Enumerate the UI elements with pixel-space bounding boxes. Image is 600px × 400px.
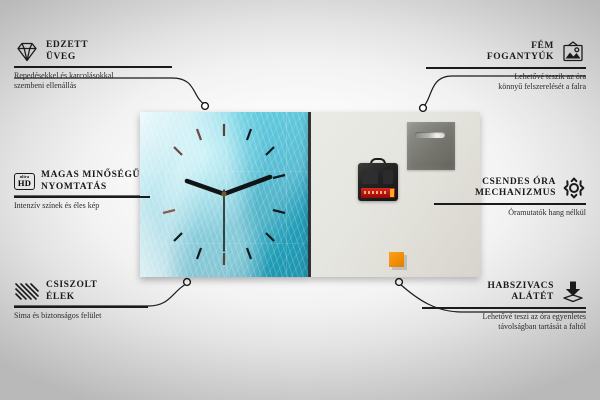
foam-pad-arrow-icon (560, 280, 586, 304)
leader-dot-tempered-glass (202, 103, 209, 110)
clock-center-cap (221, 191, 226, 196)
clock-minute-hand (224, 177, 270, 194)
polished-edge-icon (14, 282, 40, 302)
mechanism-body (358, 163, 398, 201)
callout-title: EDZETT ÜVEG (46, 40, 88, 63)
clock-dial (140, 112, 308, 277)
hanger-slot (415, 132, 445, 138)
clock-front-panel (140, 112, 308, 277)
callout-rule (14, 306, 148, 308)
callout-rule (434, 203, 586, 205)
callout-subtitle: Intenzív színek és éles kép (14, 201, 164, 211)
callout-title: CSISZOLT ÉLEK (46, 280, 97, 303)
quartz-mechanism-part (358, 163, 398, 201)
callout-metal-handles: FÉM FOGANTYÚK Lehetővé teszik az óra kön… (426, 40, 586, 92)
leader-dot-metal-handles (420, 105, 427, 112)
clock-hour-hand (187, 181, 224, 194)
ultra-hd-main-label: HD (18, 179, 31, 188)
diamond-icon (14, 41, 40, 63)
metal-hanger-plate-part (407, 122, 455, 170)
callout-title: MAGAS MINŐSÉGŰ NYOMTATÁS (41, 170, 140, 193)
battery (361, 188, 395, 198)
callout-polished-edges: CSISZOLT ÉLEK Sima és biztonságos felüle… (14, 280, 164, 321)
callout-tempered-glass: EDZETT ÜVEG Repedésekkel és karcolásokka… (14, 40, 174, 91)
infographic-canvas: EDZETT ÜVEG Repedésekkel és karcolásokka… (0, 0, 600, 400)
callout-title: CSENDES ÓRA MECHANIZMUS (475, 177, 556, 200)
callout-subtitle: Óramutatók hang nélkül (434, 208, 586, 218)
callout-subtitle: Sima és biztonságos felület (14, 311, 164, 321)
callout-rule (14, 196, 150, 198)
callout-subtitle: Lehetővé teszi az óra egyenletes távolsá… (422, 312, 586, 332)
leader-dot-polished-edges (184, 279, 191, 286)
ultra-hd-icon: ultra HD (14, 173, 35, 190)
callout-subtitle: Repedésekkel és karcolásokkal szembeni e… (14, 71, 174, 91)
gear-icon (562, 176, 586, 200)
callout-hq-print: ultra HD MAGAS MINŐSÉGŰ NYOMTATÁS Intenz… (14, 170, 164, 211)
callout-rule (426, 67, 586, 69)
callout-foam-pad: HABSZIVACS ALÁTÉT Lehetővé teszi az óra … (422, 280, 586, 332)
callout-title: HABSZIVACS ALÁTÉT (487, 281, 554, 304)
battery-terminal (390, 189, 394, 197)
callout-silent-mechanism: CSENDES ÓRA MECHANIZMUS Óramutatók hang … (434, 176, 586, 218)
mechanism-panel-left (362, 170, 378, 184)
leader-dot-foam-pad (396, 279, 403, 286)
callout-subtitle: Lehetővé teszik az óra könnyű felszerelé… (426, 72, 586, 92)
mechanism-panel-right (383, 170, 393, 184)
picture-hanger-icon (560, 40, 586, 64)
callout-title: FÉM FOGANTYÚK (487, 41, 554, 64)
callout-rule (422, 307, 586, 309)
callout-rule (14, 66, 172, 68)
foam-pad-part (389, 252, 404, 267)
battery-label (364, 191, 388, 194)
